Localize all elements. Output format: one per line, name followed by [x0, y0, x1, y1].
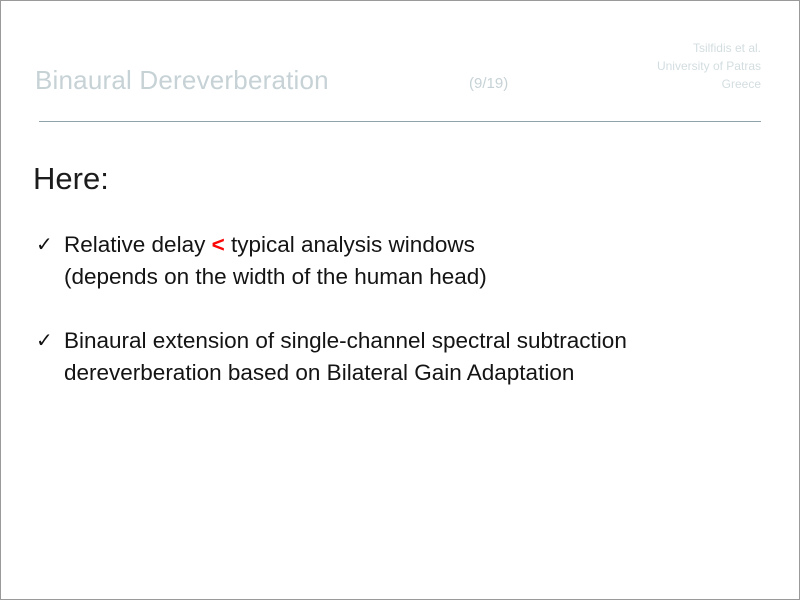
bullet-1-text-before: Relative delay [64, 232, 212, 257]
body-heading: Here: [33, 161, 109, 197]
bullet-2-line-1: Binaural extension of single-channel spe… [64, 325, 800, 357]
affiliation-authors: Tsilfidis et al. [657, 39, 761, 57]
bullet-2-line-2: dereverberation based on Bilateral Gain … [64, 357, 800, 389]
affiliation-country: Greece [657, 75, 761, 93]
bullet-item-2: ✓ Binaural extension of single-channel s… [1, 325, 800, 389]
less-than-symbol: < [212, 232, 225, 257]
checkmark-icon: ✓ [36, 325, 53, 357]
bullet-1-line-1: Relative delay < typical analysis window… [64, 229, 800, 261]
slide-canvas: Binaural Dereverberation (9/19) Tsilfidi… [0, 0, 800, 600]
page-title: Binaural Dereverberation [35, 65, 329, 96]
checkmark-icon: ✓ [36, 229, 53, 261]
affiliation-block: Tsilfidis et al. University of Patras Gr… [657, 39, 761, 93]
affiliation-institution: University of Patras [657, 57, 761, 75]
bullet-list: ✓ Relative delay < typical analysis wind… [1, 229, 800, 421]
bullet-item-1: ✓ Relative delay < typical analysis wind… [1, 229, 800, 293]
slide-header: Binaural Dereverberation (9/19) Tsilfidi… [1, 1, 800, 121]
bullet-1-line-2: (depends on the width of the human head) [64, 261, 800, 293]
page-counter: (9/19) [469, 75, 508, 92]
slide-body: Here: ✓ Relative delay < typical analysi… [1, 121, 800, 599]
bullet-1-text-after: typical analysis windows [225, 232, 475, 257]
